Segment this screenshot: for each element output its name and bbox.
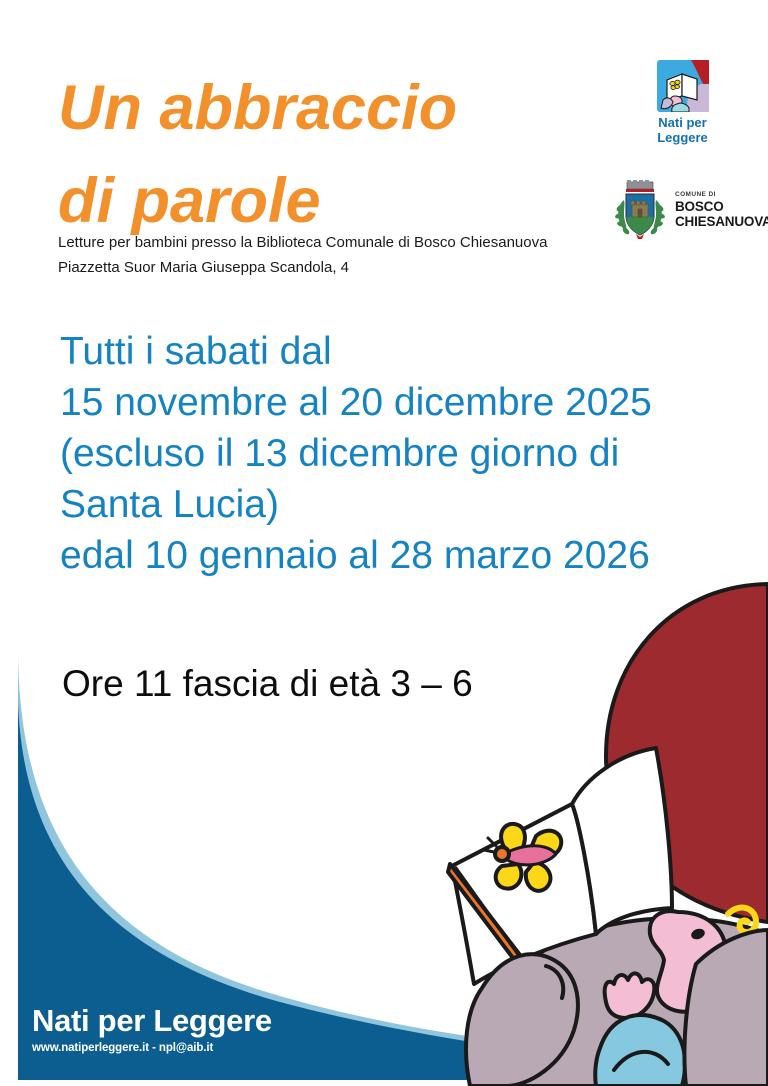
npl-logo-label-line1: Nati per <box>645 115 720 130</box>
nati-per-leggere-logo: Nati per Leggere <box>645 60 720 145</box>
poster-subtitle: Letture per bambini presso la Biblioteca… <box>58 230 618 280</box>
subtitle-line-venue: Letture per bambini presso la Biblioteca… <box>58 230 618 255</box>
brand-name: Nati per Leggere <box>32 1003 272 1038</box>
subtitle-line-address: Piazzetta Suor Maria Giuseppa Scandola, … <box>58 255 618 280</box>
schedule-line-3: (escluso il 13 dicembre giorno di <box>60 428 750 479</box>
npl-logo-label: Nati per Leggere <box>645 115 720 145</box>
comune-logo-text: COMUNE DI BOSCO CHIESANUOVA <box>675 190 768 229</box>
brand-bar: Nati per Leggere www.natiperleggere.it -… <box>32 1003 272 1055</box>
comune-name-line1: BOSCO <box>675 199 768 214</box>
schedule-line-1: Tutti i sabati dal <box>60 326 750 377</box>
brand-contact: www.natiperleggere.it - npl@aib.it <box>32 1041 272 1055</box>
npl-logo-label-line2: Leggere <box>645 130 720 145</box>
comune-small-label: COMUNE DI <box>675 190 768 199</box>
book-reading-icon <box>657 60 709 112</box>
poster-title: Un abbraccio di parole <box>58 62 598 248</box>
time-and-age-line: Ore 11 fascia di età 3 – 6 <box>62 661 473 707</box>
coat-of-arms-icon <box>612 178 668 240</box>
comune-logo: COMUNE DI BOSCO CHIESANUOVA <box>612 178 762 240</box>
schedule-text-block: Tutti i sabati dal 15 novembre al 20 dic… <box>60 326 750 581</box>
reading-illustration <box>410 578 768 1086</box>
title-line-1: Un abbraccio <box>58 62 598 155</box>
schedule-line-5: edal 10 gennaio al 28 marzo 2026 <box>60 530 750 581</box>
poster-canvas: Un abbraccio di parole Letture per bambi… <box>0 0 768 1086</box>
schedule-line-2: 15 novembre al 20 dicembre 2025 <box>60 377 750 428</box>
comune-name-line2: CHIESANUOVA <box>675 214 768 229</box>
schedule-line-4: Santa Lucia) <box>60 479 750 530</box>
